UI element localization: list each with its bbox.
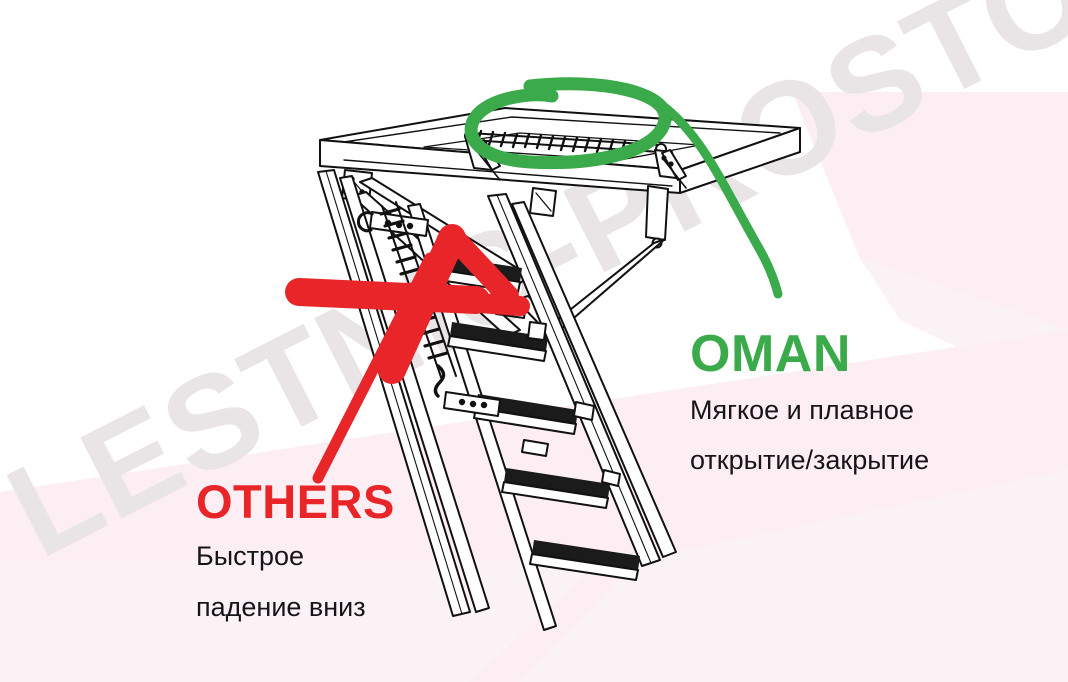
others-line2: падение вниз (196, 588, 395, 627)
others-title: OTHERS (196, 478, 395, 525)
callout-others: OTHERS Быстрое падение вниз (196, 478, 395, 627)
oman-line2: открытие/закрытие (690, 441, 929, 480)
oman-title: OMAN (690, 328, 929, 380)
others-line1: Быстрое (196, 537, 395, 576)
infographic-canvas: LESTNIC-PROSTO.RU (0, 0, 1068, 682)
callout-layer: OMAN Мягкое и плавное открытие/закрытие … (0, 0, 1068, 682)
callout-oman: OMAN Мягкое и плавное открытие/закрытие (690, 328, 929, 480)
oman-line1: Мягкое и плавное (690, 391, 929, 430)
